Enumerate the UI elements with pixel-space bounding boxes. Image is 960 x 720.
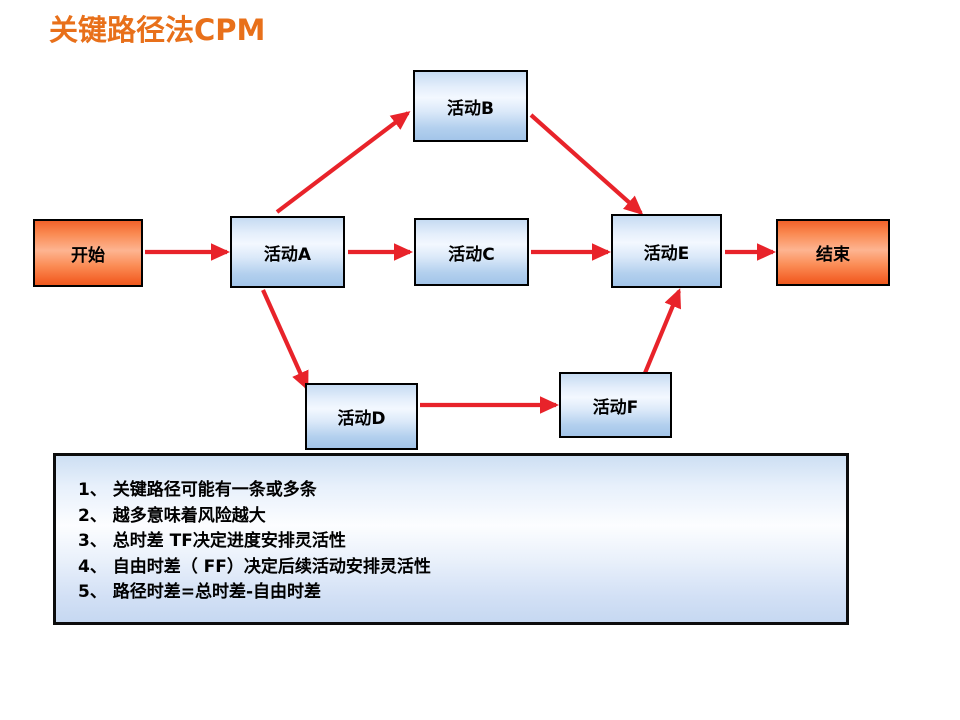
node-activity-f-label: 活动F (593, 393, 639, 418)
node-end[interactable]: 结束 (776, 219, 890, 286)
node-activity-c-label: 活动C (448, 240, 494, 265)
slide-canvas: 关键路径法CPM 开始 活动A 活动B 活动C 活动D (0, 0, 960, 720)
node-end-label: 结束 (816, 240, 850, 265)
notes-panel: 1、 关键路径可能有一条或多条 2、 越多意味着风险越大 3、 总时差 TF决定… (53, 453, 849, 625)
node-activity-b-label: 活动B (447, 94, 494, 119)
note-line-3: 3、 总时差 TF决定进度安排灵活性 (78, 529, 846, 555)
node-start[interactable]: 开始 (33, 219, 143, 287)
node-activity-a[interactable]: 活动A (230, 216, 345, 288)
node-activity-b[interactable]: 活动B (413, 70, 528, 142)
note-line-2: 2、 越多意味着风险越大 (78, 504, 846, 530)
edge-a-to-d (263, 290, 307, 388)
node-activity-d[interactable]: 活动D (305, 383, 418, 450)
note-line-5: 5、 路径时差=总时差-自由时差 (78, 580, 846, 606)
node-activity-e-label: 活动E (644, 239, 690, 264)
edge-f-to-e (645, 291, 679, 373)
node-activity-d-label: 活动D (337, 404, 385, 429)
edge-b-to-e (531, 115, 641, 213)
node-start-label: 开始 (71, 241, 105, 266)
node-activity-a-label: 活动A (264, 240, 311, 265)
node-activity-e[interactable]: 活动E (611, 214, 722, 288)
node-activity-f[interactable]: 活动F (559, 372, 672, 438)
note-line-1: 1、 关键路径可能有一条或多条 (78, 478, 846, 504)
edge-a-to-b (277, 113, 408, 212)
note-line-4: 4、 自由时差（ FF）决定后续活动安排灵活性 (78, 555, 846, 581)
page-title: 关键路径法CPM (49, 12, 265, 48)
node-activity-c[interactable]: 活动C (414, 218, 529, 286)
